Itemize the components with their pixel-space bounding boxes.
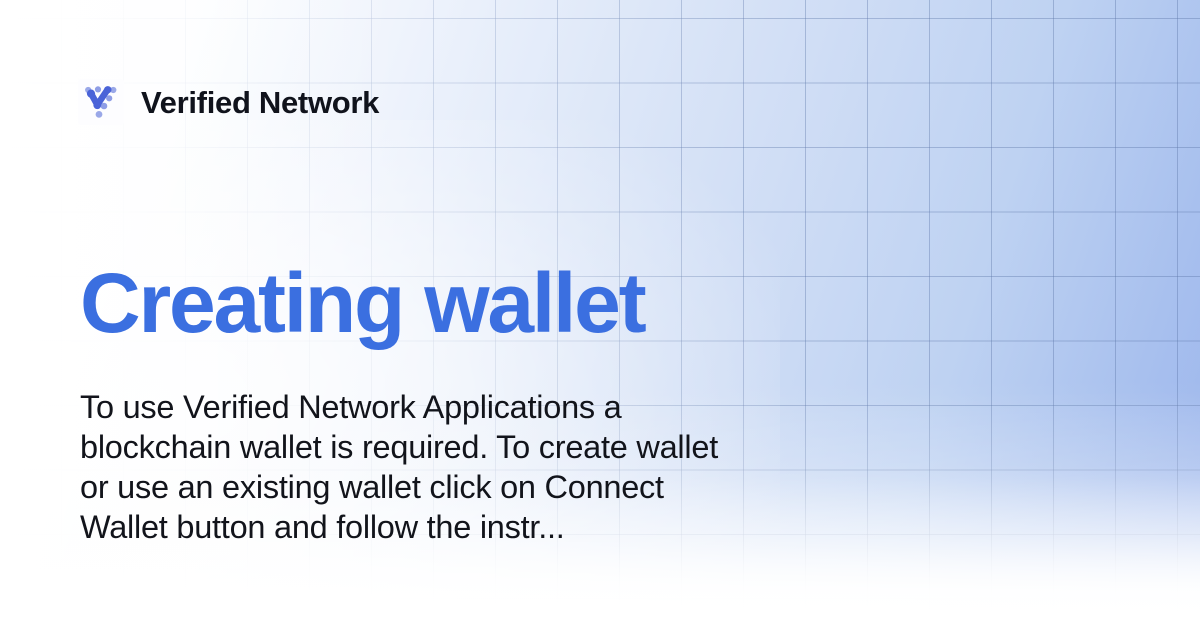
description-line: To use Verified Network Applications a bbox=[80, 387, 895, 427]
brand-lockup: Verified Network bbox=[78, 79, 379, 125]
card-content: Verified Network Creating wallet To use … bbox=[0, 0, 1200, 630]
og-preview-card: Verified Network Creating wallet To use … bbox=[0, 0, 1200, 630]
description-line: blockchain wallet is required. To create… bbox=[80, 427, 895, 467]
description-line: or use an existing wallet click on Conne… bbox=[80, 467, 895, 507]
page-description: To use Verified Network Applications a b… bbox=[80, 387, 895, 547]
verified-network-logo-icon bbox=[78, 79, 124, 125]
brand-name: Verified Network bbox=[141, 87, 379, 118]
page-title: Creating wallet bbox=[80, 261, 644, 347]
description-line: Wallet button and follow the instr... bbox=[80, 507, 895, 547]
